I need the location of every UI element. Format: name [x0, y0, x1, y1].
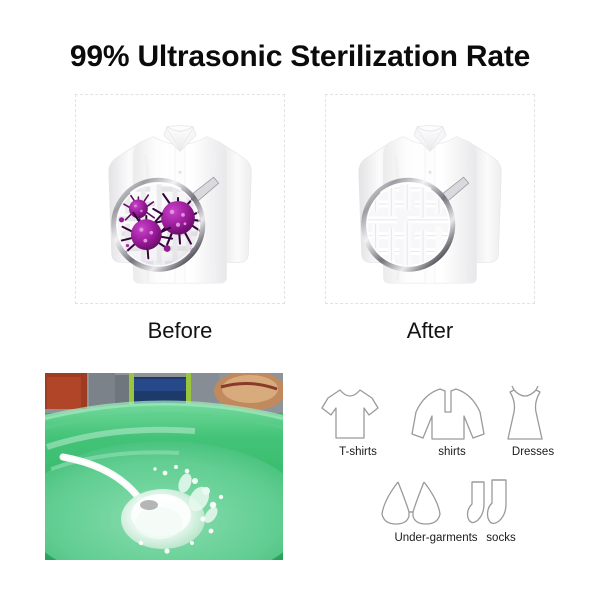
garment-label-tshirts: T-shirts — [318, 446, 398, 458]
product-demo-photo — [45, 373, 283, 560]
garment-item-dresses: Dresses — [498, 382, 568, 458]
after-caption: After — [325, 318, 535, 344]
before-panel — [75, 94, 285, 304]
garment-label-shirts: shirts — [410, 446, 494, 458]
garment-item-tshirts: T-shirts — [318, 382, 398, 458]
supported-garments-list: T-shirts shirts Dresses — [318, 382, 568, 562]
before-caption: Before — [75, 318, 285, 344]
after-panel — [325, 94, 535, 304]
page-title: 99% Ultrasonic Sterilization Rate — [0, 40, 600, 74]
garment-item-socks: socks — [466, 478, 536, 544]
magnifier-before — [76, 95, 284, 303]
longsleeve-shirt-icon — [410, 382, 494, 444]
garment-label-socks: socks — [466, 532, 536, 544]
tshirt-icon — [318, 382, 398, 444]
garment-item-shirts: shirts — [410, 382, 494, 458]
garment-label-dresses: Dresses — [498, 446, 568, 458]
dress-icon — [498, 382, 568, 444]
socks-icon — [466, 478, 536, 530]
magnifier-after — [326, 95, 534, 303]
infographic-canvas: 99% Ultrasonic Sterilization Rate — [0, 0, 600, 600]
